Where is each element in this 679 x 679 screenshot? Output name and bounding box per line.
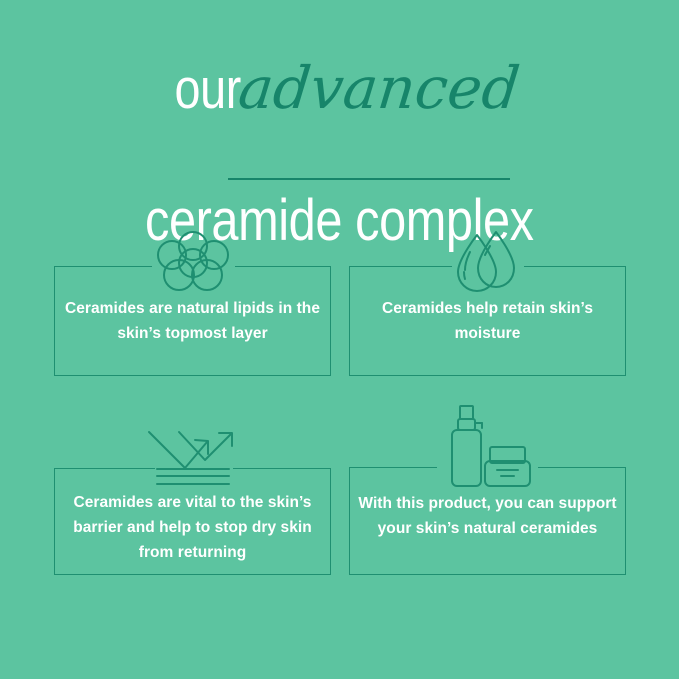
page-title: ouradvanced ceramide complex: [0, 52, 679, 124]
info-card-ceramides-natural-lipids: Ceramides are natural lipids in the skin…: [54, 228, 331, 376]
info-card-skin-barrier: Ceramides are vital to the skin’s barrie…: [54, 420, 331, 575]
card-text: With this product, you can support your …: [355, 491, 620, 541]
card-text: Ceramides help retain skin’s moisture: [355, 296, 620, 346]
headline-word-our: our: [174, 53, 240, 125]
headline-word-advanced: advanced: [235, 52, 523, 124]
barrier-deflect-arrows-icon: [141, 420, 245, 495]
info-card-retain-moisture: Ceramides help retain skin’s moisture: [349, 228, 626, 376]
ceramide-complex-poster: ouradvanced ceramide complex Ceramides a…: [0, 0, 679, 679]
info-card-support-natural-ceramides: With this product, you can support your …: [349, 403, 626, 575]
headline-line-1: ouradvanced: [0, 52, 679, 124]
bottle-and-jar-icon: [438, 403, 538, 496]
card-text: Ceramides are natural lipids in the skin…: [60, 296, 325, 346]
water-droplets-icon: [451, 228, 525, 303]
card-text: Ceramides are vital to the skin’s barrie…: [60, 490, 325, 565]
cell-cluster-icon: [150, 228, 236, 301]
